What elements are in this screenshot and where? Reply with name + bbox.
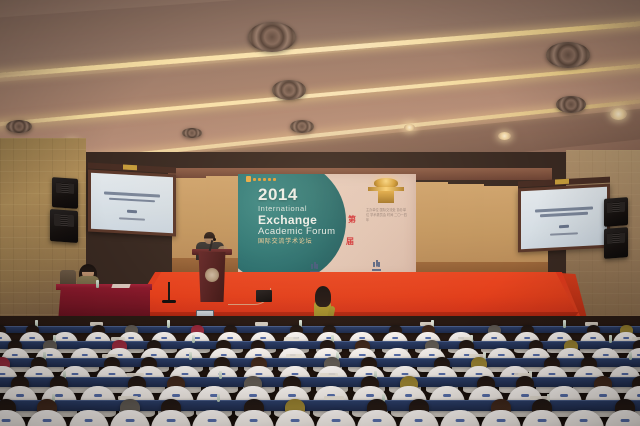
- slide-logo-mark: [559, 225, 569, 229]
- ceiling-air-vent: [556, 96, 586, 113]
- ceiling-air-vent: [248, 22, 296, 52]
- banner-year: 2014: [258, 186, 335, 203]
- banner-line-academic-forum: Academic Forum: [258, 227, 335, 237]
- slide-logo-mark: [127, 209, 137, 213]
- banner-line-exchange: Exchange: [258, 214, 335, 226]
- slide-title-line: [540, 212, 588, 217]
- water-bottle: [167, 320, 170, 328]
- water-bottle: [609, 335, 612, 343]
- slide-title-line: [109, 197, 155, 202]
- water-bottle: [189, 352, 192, 360]
- paper-handout: [320, 373, 338, 377]
- ceiling-downlight: [610, 108, 627, 120]
- water-bottle: [219, 371, 222, 379]
- banner-chinese-subtitle: 国际交流学术论坛: [258, 239, 335, 245]
- banner-text-block: 2014 International Exchange Academic For…: [258, 186, 335, 245]
- paper-handout: [324, 396, 344, 400]
- microphone-head-icon: [213, 238, 216, 241]
- auditorium-photo: 2014 International Exchange Academic For…: [0, 0, 640, 426]
- paper-handout: [286, 354, 302, 358]
- ceiling-downlight: [404, 124, 415, 131]
- slide-subtitle-line: [550, 232, 578, 235]
- audience-seating: [0, 316, 640, 426]
- wall-loudspeaker: [50, 209, 78, 243]
- slide-subtitle-line: [119, 217, 145, 220]
- banner-top-ornament: [246, 176, 276, 182]
- water-bottle: [192, 335, 195, 343]
- paper-documents: [111, 284, 130, 288]
- gold-crest-icon: [366, 178, 406, 204]
- paper-handout: [255, 322, 268, 326]
- banner-line-international: International: [258, 205, 335, 213]
- slide-title-line: [104, 192, 160, 198]
- water-bottle: [563, 320, 566, 328]
- banner-red-accent-2: 届: [346, 236, 354, 247]
- banner-side-text: 主办单位 国际交流处 协办单位 学术委员会 时间 二〇一四年: [366, 208, 408, 222]
- water-bottle: [96, 280, 99, 288]
- ceiling-air-vent: [182, 128, 202, 138]
- ceiling: [0, 0, 640, 152]
- wall-loudspeaker: [604, 197, 628, 227]
- left-projection-screen: [88, 170, 176, 237]
- microphone-stand-base: [162, 300, 176, 303]
- podium-emblem-icon: [205, 268, 219, 282]
- floor-microphone-stand: [168, 282, 170, 302]
- right-projection-screen: [518, 184, 610, 253]
- banner-red-accent-1: 第: [348, 214, 356, 225]
- paper-handout: [284, 337, 299, 341]
- ceiling-air-vent: [272, 80, 306, 100]
- ceiling-air-vent: [546, 42, 590, 68]
- ceiling-air-vent: [290, 120, 314, 133]
- stage-monitor-speaker: [256, 290, 272, 302]
- ceiling-downlight: [498, 132, 511, 140]
- water-bottle: [629, 352, 632, 360]
- water-bottle: [217, 394, 220, 402]
- wall-loudspeaker: [604, 227, 628, 259]
- ceiling-air-vent: [6, 120, 32, 133]
- standing-attendee-hair: [315, 286, 331, 307]
- banner-logo-left: [310, 262, 319, 273]
- banner-logo-right: [372, 260, 381, 271]
- wall-loudspeaker: [52, 177, 78, 209]
